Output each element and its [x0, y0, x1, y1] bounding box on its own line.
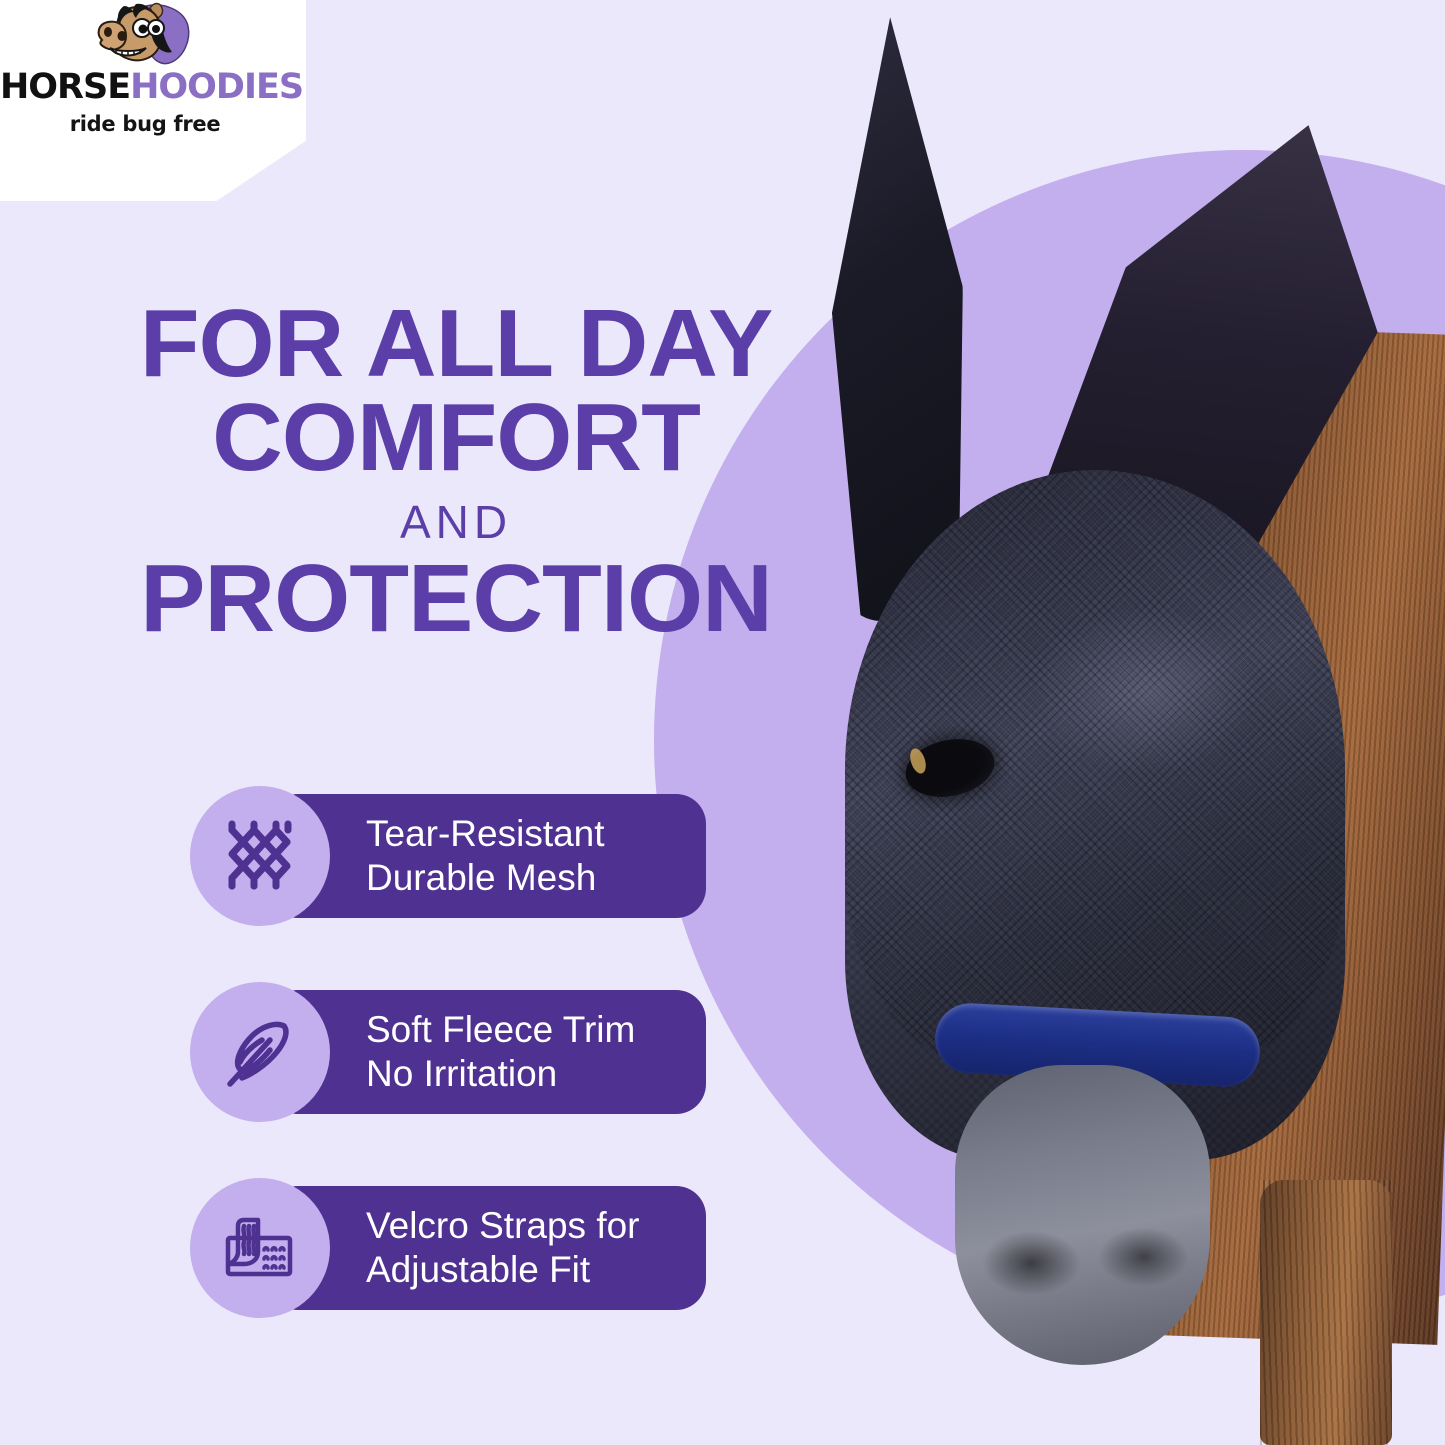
brand-wordmark: HORSEHOODIES: [0, 70, 290, 105]
feature-pill: Velcro Straps for Adjustable Fit: [268, 1186, 706, 1310]
headline-line-2: COMFORT: [48, 394, 864, 482]
headline-line-4: PROTECTION: [48, 555, 864, 643]
headline-line-1: FOR ALL DAY: [48, 300, 864, 388]
velcro-strap-icon: [190, 1178, 330, 1318]
feature-pill: Tear-Resistant Durable Mesh: [268, 794, 706, 918]
brand-logo-panel: HORSEHOODIES ride bug free: [0, 0, 306, 201]
donkey-muzzle: [955, 1065, 1210, 1365]
brand-word-hoodies: HOODIES: [130, 67, 303, 107]
feature-item: Velcro Straps for Adjustable Fit: [190, 1178, 710, 1318]
feature-list: Tear-Resistant Durable Mesh: [190, 786, 710, 1374]
feature-item: Tear-Resistant Durable Mesh: [190, 786, 710, 926]
brand-tagline: ride bug free: [0, 112, 290, 136]
headline-line-3-and: AND: [56, 495, 856, 549]
horse-head-with-hood-icon: [88, 0, 198, 72]
headline-block: FOR ALL DAY COMFORT AND PROTECTION: [56, 300, 856, 643]
mesh-lattice-icon: [190, 786, 330, 926]
feather-icon: [190, 982, 330, 1122]
feature-pill: Soft Fleece Trim No Irritation: [268, 990, 706, 1114]
feature-item: Soft Fleece Trim No Irritation: [190, 982, 710, 1122]
product-photo-donkey-fly-mask: [760, 0, 1445, 1445]
brand-word-horse: HORSE: [0, 67, 130, 107]
promo-graphic: HORSEHOODIES ride bug free FOR ALL DAY C…: [0, 0, 1445, 1445]
donkey-leg: [1260, 1180, 1392, 1445]
